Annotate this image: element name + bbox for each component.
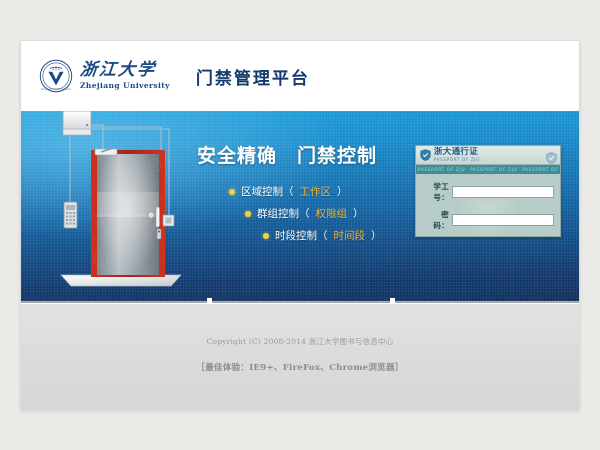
feature-tail: ）	[371, 228, 382, 243]
feature-accent: 权限组	[316, 206, 348, 221]
svg-text:ZHEJIANG UNIVERSITY: ZHEJIANG UNIVERSITY	[41, 88, 72, 91]
carousel-tick-1[interactable]	[207, 298, 212, 303]
login-panel-title-en: PASSPORT OF ZJU	[434, 158, 480, 162]
hero-banner: 安全精确 门禁控制 区域控制（ 工作区 ） 群组控制（ 权限组 ） 时段控制（	[21, 111, 579, 303]
login-panel-titles: 浙大通行证 PASSPORT OF ZJU	[434, 148, 480, 162]
login-panel: 浙大通行证 PASSPORT OF ZJU PASSPORT OF ZJU PA…	[415, 145, 561, 237]
user-id-row: 学工号：	[422, 181, 554, 203]
login-panel-watermark-strip: PASSPORT OF ZJU PASSPORT OF ZJU PASSPORT…	[416, 165, 560, 174]
feature-item-time-control[interactable]: 时段控制（ 时间段 ）	[197, 228, 427, 243]
logo-text-en: Zhejiang University	[80, 82, 170, 90]
shield-icon-secondary	[546, 149, 557, 168]
login-panel-body: 学工号： 密 码： 登录 登录须知 校园卡密码登录	[416, 174, 560, 237]
shield-icon	[420, 146, 431, 165]
hero-bottom-border	[21, 301, 579, 303]
bullet-dot-icon	[245, 211, 251, 217]
site-logo[interactable]: ZHEJIANG UNIVERSITY 浙江大学 Zhejiang Univer…	[39, 59, 170, 93]
feature-tail: ）	[337, 184, 348, 199]
page-title: 门禁管理平台	[196, 64, 310, 89]
password-field[interactable]	[452, 214, 554, 226]
feature-label: 群组控制（	[257, 206, 310, 221]
feature-accent: 时间段	[334, 228, 366, 243]
login-panel-header: 浙大通行证 PASSPORT OF ZJU	[416, 146, 560, 165]
page-card: ZHEJIANG UNIVERSITY 浙江大学 Zhejiang Univer…	[20, 40, 580, 411]
feature-tail: ）	[353, 206, 364, 221]
hero-copy: 安全精确 门禁控制 区域控制（ 工作区 ） 群组控制（ 权限组 ） 时段控制（	[197, 141, 427, 250]
browser-support-note: ［最佳体验：IE9+、FireFox、Chrome浏览器］	[196, 361, 403, 373]
sensor-box	[163, 215, 174, 226]
card-reader	[157, 229, 161, 239]
door-closer	[95, 148, 117, 155]
password-label: 密 码：	[422, 209, 449, 231]
logo-text-cn: 浙江大学	[79, 62, 171, 79]
feature-accent: 工作区	[300, 184, 332, 199]
hero-feature-list: 区域控制（ 工作区 ） 群组控制（ 权限组 ） 时段控制（ 时间段 ）	[197, 184, 427, 243]
carousel-tick-2[interactable]	[390, 298, 395, 303]
feature-label: 时段控制（	[275, 228, 328, 243]
bullet-dot-icon	[229, 189, 235, 195]
copyright-text: Copyright (C) 2008-2014 浙江大学图书与信息中心	[207, 336, 394, 347]
zju-seal-icon: ZHEJIANG UNIVERSITY	[39, 59, 73, 93]
controller-box	[63, 111, 91, 135]
bullet-dot-icon	[263, 233, 269, 239]
site-footer: Copyright (C) 2008-2014 浙江大学图书与信息中心 ［最佳体…	[21, 303, 579, 411]
hero-headline: 安全精确 门禁控制	[197, 141, 427, 168]
user-id-label: 学工号：	[422, 181, 449, 203]
site-header: ZHEJIANG UNIVERSITY 浙江大学 Zhejiang Univer…	[21, 41, 579, 111]
logo-wordmark: 浙江大学 Zhejiang University	[80, 62, 170, 90]
keypad-reader	[64, 202, 77, 228]
feature-item-group-control[interactable]: 群组控制（ 权限组 ）	[197, 206, 427, 221]
feature-label: 区域控制（	[241, 184, 294, 199]
feature-item-area-control[interactable]: 区域控制（ 工作区 ）	[197, 184, 427, 199]
user-id-field[interactable]	[452, 186, 554, 198]
access-control-door-illustration	[43, 111, 203, 297]
password-row: 密 码：	[422, 209, 554, 231]
login-panel-title-cn: 浙大通行证	[434, 148, 480, 157]
